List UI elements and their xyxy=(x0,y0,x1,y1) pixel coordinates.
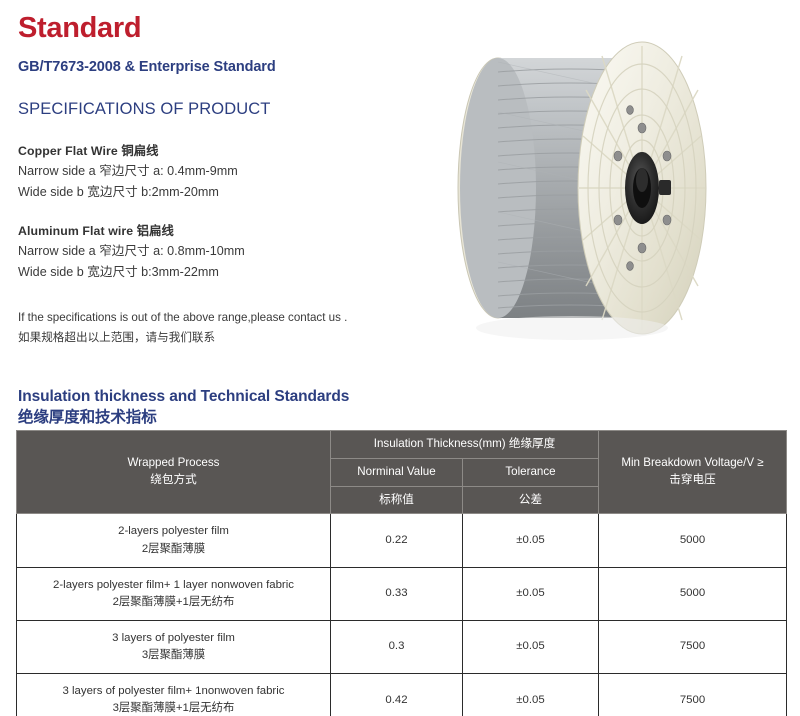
out-of-range-note: If the specifications is out of the abov… xyxy=(18,308,428,348)
cell-voltage: 5000 xyxy=(599,514,787,567)
cell-process-cn: 3层聚酯薄膜 xyxy=(23,647,324,664)
insulation-section-heading: Insulation thickness and Technical Stand… xyxy=(18,386,428,429)
aluminum-flat-wire-spec-group: Aluminum Flat wire 铝扁线 Narrow side a 窄边尺… xyxy=(18,222,428,282)
standard-subtitle: GB/T7673-2008 & Enterprise Standard xyxy=(18,59,428,75)
cell-process: 3 layers of polyester film 3层聚酯薄膜 xyxy=(17,620,331,673)
cell-nominal: 0.42 xyxy=(331,674,463,716)
cell-process: 2-layers polyester film 2层聚酯薄膜 xyxy=(17,514,331,567)
specifications-of-product-heading: SPECIFICATIONS OF PRODUCT xyxy=(18,100,428,119)
header-nominal-value-en: Norminal Value xyxy=(331,458,463,486)
spool-drive-pin xyxy=(659,180,671,195)
insulation-heading-chinese: 绝缘厚度和技术指标 xyxy=(18,407,428,428)
header-min-breakdown-voltage-en: Min Breakdown Voltage/V ≥ xyxy=(621,456,763,469)
insulation-heading-english: Insulation thickness and Technical Stand… xyxy=(18,386,428,407)
cell-process-cn: 2层聚酯薄膜 xyxy=(23,541,324,558)
product-specification-page: Standard GB/T7673-2008 & Enterprise Stan… xyxy=(0,0,800,716)
cell-process-cn: 3层聚酯薄膜+1层无纺布 xyxy=(23,700,324,716)
hub-highlight xyxy=(636,168,648,192)
cable-spool-photo xyxy=(452,28,714,344)
cell-process-cn: 2层聚酯薄膜+1层无纺布 xyxy=(23,594,324,611)
cell-tolerance: ±0.05 xyxy=(463,567,599,620)
copper-wide-side-line: Wide side b 宽边尺寸 b:2mm-20mm xyxy=(18,182,428,202)
specifications-text-column: Standard GB/T7673-2008 & Enterprise Stan… xyxy=(18,12,428,429)
header-min-breakdown-voltage: Min Breakdown Voltage/V ≥ 击穿电压 xyxy=(599,431,787,514)
insulation-specification-table-wrapper: Wrapped Process 绕包方式 Insulation Thicknes… xyxy=(16,430,786,716)
cell-tolerance: ±0.05 xyxy=(463,514,599,567)
header-insulation-thickness-group: Insulation Thickness(mm) 绝缘厚度 xyxy=(331,431,599,459)
header-wrapped-process-en: Wrapped Process xyxy=(128,456,220,469)
cell-nominal: 0.33 xyxy=(331,567,463,620)
page-title: Standard xyxy=(18,12,428,45)
aluminum-wide-side-line: Wide side b 宽边尺寸 b:3mm-22mm xyxy=(18,262,428,282)
insulation-specification-table: Wrapped Process 绕包方式 Insulation Thicknes… xyxy=(16,430,787,716)
note-line-english: If the specifications is out of the abov… xyxy=(18,308,428,328)
cell-tolerance: ±0.05 xyxy=(463,674,599,716)
cell-voltage: 5000 xyxy=(599,567,787,620)
cable-spool-illustration xyxy=(452,28,714,344)
cell-tolerance: ±0.05 xyxy=(463,620,599,673)
cell-process: 2-layers polyester film+ 1 layer nonwove… xyxy=(17,567,331,620)
spool-base-shadow xyxy=(476,316,668,340)
note-line-chinese: 如果规格超出以上范围，请与我们联系 xyxy=(18,328,428,348)
aluminum-flat-wire-heading: Aluminum Flat wire 铝扁线 xyxy=(18,222,428,241)
cell-voltage: 7500 xyxy=(599,674,787,716)
cell-process-en: 3 layers of polyester film xyxy=(23,630,324,647)
copper-flat-wire-heading: Copper Flat Wire 铜扁线 xyxy=(18,142,428,161)
table-header: Wrapped Process 绕包方式 Insulation Thicknes… xyxy=(17,431,787,514)
cell-voltage: 7500 xyxy=(599,620,787,673)
cell-process: 3 layers of polyester film+ 1nonwoven fa… xyxy=(17,674,331,716)
table-header-row-1: Wrapped Process 绕包方式 Insulation Thicknes… xyxy=(17,431,787,459)
cell-process-en: 3 layers of polyester film+ 1nonwoven fa… xyxy=(23,683,324,700)
copper-narrow-side-line: Narrow side a 窄边尺寸 a: 0.4mm-9mm xyxy=(18,161,428,181)
table-body: 2-layers polyester film 2层聚酯薄膜 0.22 ±0.0… xyxy=(17,514,787,716)
header-nominal-value-cn: 标称值 xyxy=(331,486,463,514)
cell-nominal: 0.22 xyxy=(331,514,463,567)
cell-process-en: 2-layers polyester film+ 1 layer nonwove… xyxy=(23,577,324,594)
table-row: 3 layers of polyester film 3层聚酯薄膜 0.3 ±0… xyxy=(17,620,787,673)
header-wrapped-process-cn: 绕包方式 xyxy=(21,472,326,489)
spool-right-flange xyxy=(578,42,706,334)
header-wrapped-process: Wrapped Process 绕包方式 xyxy=(17,431,331,514)
header-min-breakdown-voltage-cn: 击穿电压 xyxy=(603,472,782,489)
copper-flat-wire-spec-group: Copper Flat Wire 铜扁线 Narrow side a 窄边尺寸 … xyxy=(18,142,428,202)
header-tolerance-cn: 公差 xyxy=(463,486,599,514)
cell-process-en: 2-layers polyester film xyxy=(23,523,324,540)
table-row: 2-layers polyester film+ 1 layer nonwove… xyxy=(17,567,787,620)
header-tolerance-en: Tolerance xyxy=(463,458,599,486)
table-row: 2-layers polyester film 2层聚酯薄膜 0.22 ±0.0… xyxy=(17,514,787,567)
aluminum-narrow-side-line: Narrow side a 窄边尺寸 a: 0.8mm-10mm xyxy=(18,241,428,261)
cell-nominal: 0.3 xyxy=(331,620,463,673)
table-row: 3 layers of polyester film+ 1nonwoven fa… xyxy=(17,674,787,716)
